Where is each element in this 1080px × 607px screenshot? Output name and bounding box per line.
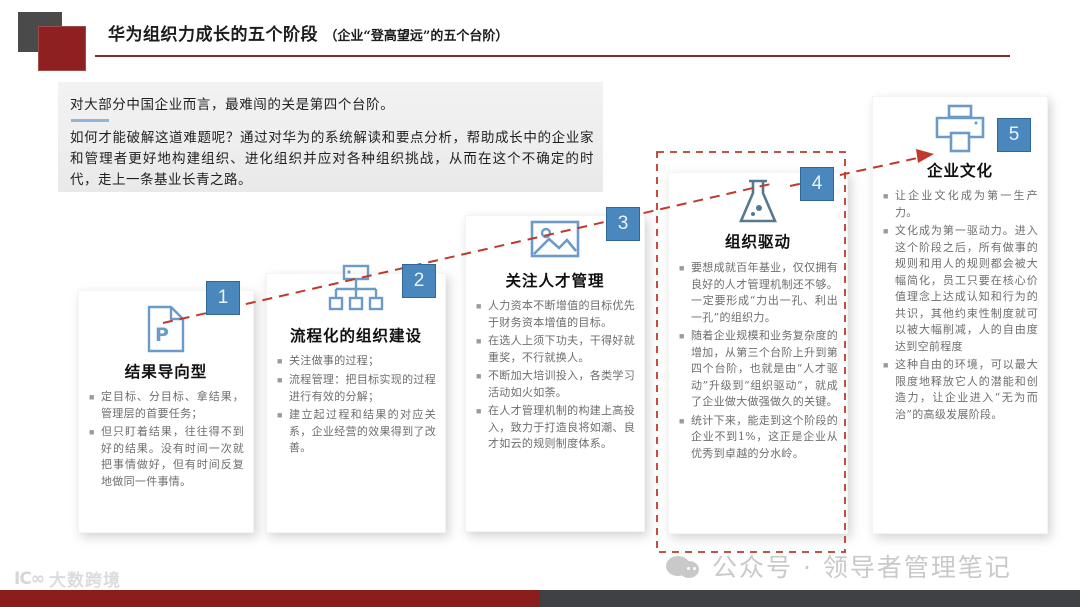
intro-headline: 对大部分中国企业而言，最难闯的关是第四个台阶。	[70, 93, 394, 113]
stage-card-1[interactable]: P 结果导向型 ■ 定目标、分目标、拿结果，管理层的首要任务； ■ 但只盯着结果…	[78, 290, 254, 533]
stage-card-2-body: ■ 关注做事的过程； ■ 流程管理：把目标实现的过程进行有效的分解； ■ 建立起…	[276, 353, 436, 459]
bullet-square-icon: ■	[475, 368, 488, 401]
title-underline	[95, 55, 1010, 57]
brand-name: 大数跨境	[49, 566, 121, 591]
list-item: ■ 让企业文化成为第一生产力。	[882, 188, 1038, 221]
intro-body: 如何才能破解这道难题呢？通过对华为的系统解读和要点分析，帮助成长中的企业家和管理…	[70, 128, 594, 191]
stage-card-5[interactable]: 企业文化 ■ 让企业文化成为第一生产力。 ■ 文化成为第一驱动力。进入这个阶段之…	[872, 96, 1048, 534]
list-item: ■ 文化成为第一驱动力。进入这个阶段之后，所有做事的规则和用人的规则都会被大幅简…	[882, 223, 1038, 355]
list-item: ■ 建立起过程和结果的对应关系，企业经营的效果得到了改善。	[276, 407, 436, 457]
intro-panel: 对大部分中国企业而言，最难闯的关是第四个台阶。 如何才能破解这道难题呢？通过对华…	[58, 82, 603, 192]
list-item-text: 这种自由的环境，可以最大限度地释放它人的潜能和创造力，让企业进入“无为而治”的高…	[895, 357, 1038, 423]
stage-card-3[interactable]: 关注人才管理 ■ 人力资本不断增值的目标优先于财务资本增值的目标。 ■ 在选人上…	[465, 215, 645, 532]
bullet-square-icon: ■	[678, 260, 691, 326]
list-item-text: 文化成为第一驱动力。进入这个阶段之后，所有做事的规则和用人的规则都会被大幅简化，…	[895, 223, 1038, 355]
stage-card-4-title: 组织驱动	[669, 230, 847, 252]
list-item-text: 随着企业规模和业务复杂度的增加，从第三个台阶上升到第四个台阶，也就是由“人才驱动…	[691, 328, 838, 411]
list-item-text: 关注做事的过程；	[289, 353, 436, 370]
bullet-square-icon: ■	[882, 357, 895, 423]
slide-canvas: 华为组织力成长的五个阶段 （企业“登高望远”的五个台阶） 对大部分中国企业而言，…	[0, 0, 1080, 607]
brand-mark: IC∞	[14, 569, 44, 589]
list-item: ■ 统计下来，能走到这个阶段的企业不到1%，这正是企业从优秀到卓越的分水岭。	[678, 413, 838, 463]
bullet-square-icon: ■	[475, 298, 488, 331]
stage-card-4[interactable]: 组织驱动 ■ 要想成就百年基业，仅仅拥有良好的人才管理机制还不够。一定要形成“力…	[668, 172, 848, 534]
bullet-square-icon: ■	[882, 188, 895, 221]
stage-number-2: 2	[414, 270, 425, 292]
wechat-icon	[666, 553, 704, 579]
list-item: ■ 关注做事的过程；	[276, 353, 436, 370]
list-item-text: 统计下来，能走到这个阶段的企业不到1%，这正是企业从优秀到卓越的分水岭。	[691, 413, 838, 463]
stage-number-5: 5	[1009, 124, 1020, 146]
list-item: ■ 不断加大培训投入，各类学习活动如火如荼。	[475, 368, 635, 401]
bullet-square-icon: ■	[678, 413, 691, 463]
stage-card-1-title: 结果导向型	[79, 360, 253, 382]
stage-number-chip-4: 4	[800, 167, 834, 201]
list-item-text: 在人才管理机制的构建上高投入，致力于打造良将如潮、良才如云的规则制度体系。	[488, 403, 635, 453]
stage-card-3-body: ■ 人力资本不断增值的目标优先于财务资本增值的目标。 ■ 在选人上须下功夫，干得…	[475, 298, 635, 455]
stage-number-1: 1	[218, 287, 229, 309]
stage-card-3-title: 关注人才管理	[466, 269, 644, 291]
stage-card-5-title: 企业文化	[873, 159, 1047, 181]
logo-square-red	[38, 26, 86, 71]
footer-bar-left	[0, 590, 540, 607]
list-item-text: 建立起过程和结果的对应关系，企业经营的效果得到了改善。	[289, 407, 436, 457]
list-item: ■ 在选人上须下功夫，干得好就重奖，不行就换人。	[475, 333, 635, 366]
stage-number-chip-2: 2	[402, 264, 436, 298]
page-title-sub: （企业“登高望远”的五个台阶）	[324, 29, 508, 44]
stage-number-4: 4	[812, 173, 823, 195]
svg-text:P: P	[155, 324, 169, 346]
list-item: ■ 要想成就百年基业，仅仅拥有良好的人才管理机制还不够。一定要形成“力出一孔、利…	[678, 260, 838, 326]
stage-card-5-body: ■ 让企业文化成为第一生产力。 ■ 文化成为第一驱动力。进入这个阶段之后，所有做…	[882, 188, 1038, 425]
intro-divider	[71, 119, 109, 122]
list-item: ■ 在人才管理机制的构建上高投入，致力于打造良将如潮、良才如云的规则制度体系。	[475, 403, 635, 453]
bullet-square-icon: ■	[88, 389, 101, 422]
list-item: ■ 定目标、分目标、拿结果，管理层的首要任务；	[88, 389, 244, 422]
stage-number-chip-5: 5	[997, 118, 1031, 152]
bullet-square-icon: ■	[882, 223, 895, 355]
bullet-square-icon: ■	[276, 353, 289, 370]
page-title: 华为组织力成长的五个阶段 （企业“登高望远”的五个台阶）	[108, 20, 508, 45]
list-item-text: 要想成就百年基业，仅仅拥有良好的人才管理机制还不够。一定要形成“力出一孔、利出一…	[691, 260, 838, 326]
list-item-text: 在选人上须下功夫，干得好就重奖，不行就换人。	[488, 333, 635, 366]
list-item-text: 但只盯着结果，往往得不到好的结果。没有时间一次就把事情做好，但有时间反复地做同一…	[101, 424, 244, 490]
list-item-text: 流程管理：把目标实现的过程进行有效的分解；	[289, 372, 436, 405]
watermark: 公众号 · 领导者管理笔记	[666, 548, 1012, 584]
bullet-square-icon: ■	[276, 372, 289, 405]
list-item-text: 定目标、分目标、拿结果，管理层的首要任务；	[101, 389, 244, 422]
brand-logo: IC∞ 大数跨境	[14, 566, 121, 591]
bullet-square-icon: ■	[475, 333, 488, 366]
bullet-square-icon: ■	[475, 403, 488, 453]
stage-card-2[interactable]: 流程化的组织建设 ■ 关注做事的过程； ■ 流程管理：把目标实现的过程进行有效的…	[266, 273, 446, 533]
bullet-square-icon: ■	[678, 328, 691, 411]
bullet-square-icon: ■	[88, 424, 101, 490]
page-title-main: 华为组织力成长的五个阶段	[108, 25, 318, 45]
list-item-text: 让企业文化成为第一生产力。	[895, 188, 1038, 221]
watermark-text: 公众号 · 领导者管理笔记	[712, 548, 1012, 584]
bullet-square-icon: ■	[276, 407, 289, 457]
stage-card-2-title: 流程化的组织建设	[267, 324, 445, 346]
list-item-text: 不断加大培训投入，各类学习活动如火如荼。	[488, 368, 635, 401]
list-item: ■ 人力资本不断增值的目标优先于财务资本增值的目标。	[475, 298, 635, 331]
footer-bar-right	[540, 590, 1080, 607]
list-item: ■ 流程管理：把目标实现的过程进行有效的分解；	[276, 372, 436, 405]
stage-number-chip-1: 1	[206, 281, 240, 315]
stage-card-1-body: ■ 定目标、分目标、拿结果，管理层的首要任务； ■ 但只盯着结果，往往得不到好的…	[88, 389, 244, 492]
stage-number-chip-3: 3	[606, 207, 640, 241]
list-item: ■ 但只盯着结果，往往得不到好的结果。没有时间一次就把事情做好，但有时间反复地做…	[88, 424, 244, 490]
list-item: ■ 这种自由的环境，可以最大限度地释放它人的潜能和创造力，让企业进入“无为而治”…	[882, 357, 1038, 423]
stage-card-4-body: ■ 要想成就百年基业，仅仅拥有良好的人才管理机制还不够。一定要形成“力出一孔、利…	[678, 260, 838, 464]
list-item: ■ 随着企业规模和业务复杂度的增加，从第三个台阶上升到第四个台阶，也就是由“人才…	[678, 328, 838, 411]
list-item-text: 人力资本不断增值的目标优先于财务资本增值的目标。	[488, 298, 635, 331]
stage-number-3: 3	[618, 213, 629, 235]
